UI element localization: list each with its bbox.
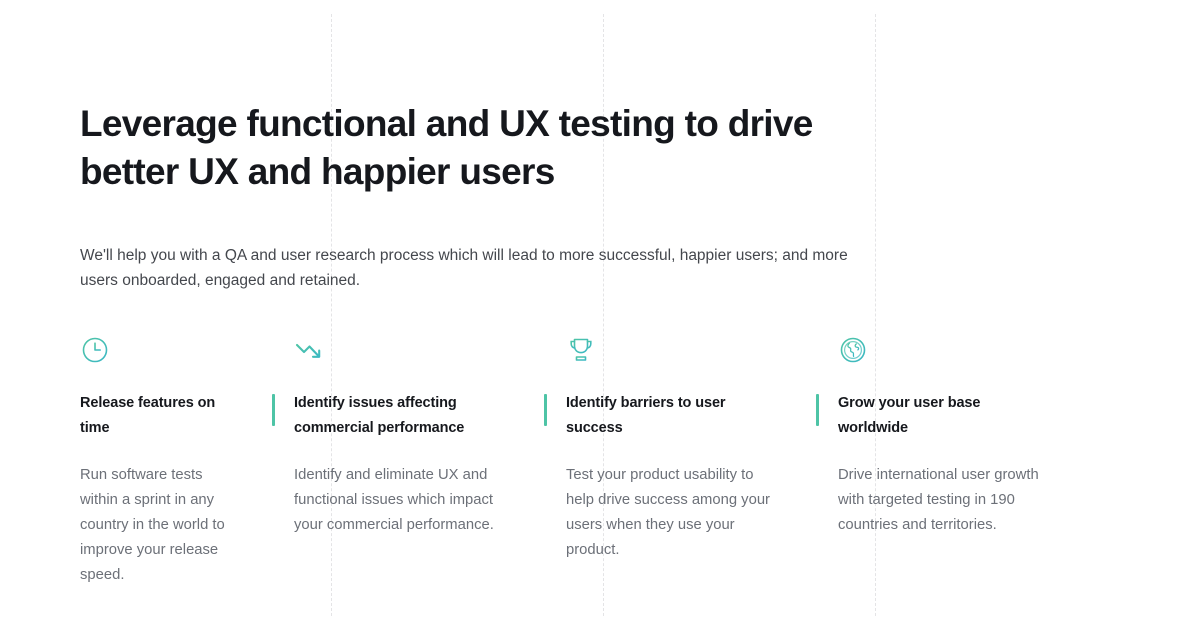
feature-body-text: Identify and eliminate UX and functional…	[294, 463, 510, 538]
page-subheading: We'll help you with a QA and user resear…	[80, 243, 855, 293]
feature-column-release-features: Release features on time Run software te…	[0, 335, 272, 588]
feature-columns: Release features on time Run software te…	[0, 335, 1200, 588]
feature-body-text: Run software tests within a sprint in an…	[80, 463, 238, 588]
feature-heading: Identify barriers to user success	[566, 391, 782, 441]
feature-heading: Identify issues affecting commercial per…	[294, 391, 510, 441]
feature-heading-text: Identify issues affecting commercial per…	[294, 395, 464, 436]
feature-body-text: Drive international user growth with tar…	[838, 463, 1054, 538]
accent-bar	[816, 394, 819, 426]
feature-body-text: Test your product usability to help driv…	[566, 463, 782, 563]
feature-heading: Grow your user base worldwide	[838, 391, 1054, 441]
feature-heading-text: Release features on time	[80, 395, 215, 436]
feature-heading-text: Identify barriers to user success	[566, 395, 725, 436]
feature-column-worldwide-growth: Grow your user base worldwide Drive inte…	[816, 335, 1088, 588]
feature-heading-text: Grow your user base worldwide	[838, 395, 980, 436]
accent-bar	[544, 394, 547, 426]
accent-bar	[272, 394, 275, 426]
feature-heading: Release features on time	[80, 391, 238, 441]
page-title: Leverage functional and UX testing to dr…	[80, 100, 880, 196]
clock-icon	[80, 335, 238, 369]
marketing-hero-page: Leverage functional and UX testing to dr…	[0, 0, 1200, 630]
trophy-icon	[566, 335, 782, 369]
globe-icon	[838, 335, 1054, 369]
feature-column-commercial-performance: Identify issues affecting commercial per…	[272, 335, 544, 588]
feature-column-user-success: Identify barriers to user success Test y…	[544, 335, 816, 588]
trend-down-icon	[294, 335, 510, 369]
